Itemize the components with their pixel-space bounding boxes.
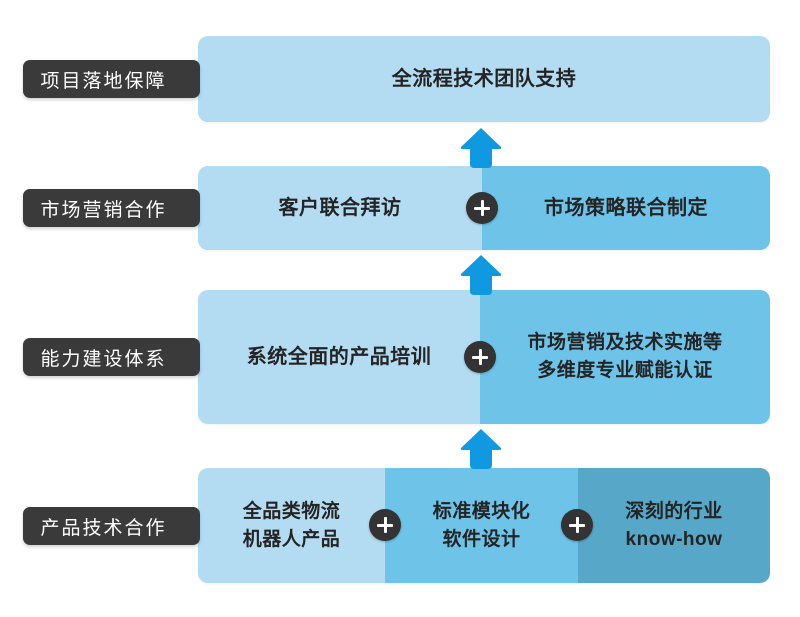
cell-4-2-line-1: 标准模块化 — [433, 498, 531, 526]
cell-3-1-line-1: 系统全面的产品培训 — [247, 343, 432, 372]
row-2-label-text: 市场营销合作 — [40, 195, 166, 222]
diagram-row-2: 客户联合拜访 市场策略联合制定 市场营销合作 — [0, 166, 800, 250]
cell-4-1[interactable]: 全品类物流 机器人产品 — [198, 468, 385, 583]
row-3-label-text: 能力建设体系 — [40, 344, 166, 371]
diagram-row-1: 全流程技术团队支持 项目落地保障 — [0, 36, 800, 122]
cell-1-1-line-1: 全流程技术团队支持 — [392, 65, 577, 94]
cell-3-2[interactable]: 市场营销及技术实施等 多维度专业赋能认证 — [480, 290, 770, 424]
arrow-up-icon-3 — [459, 428, 503, 470]
row-4-label-tag[interactable]: 产品技术合作 — [23, 507, 200, 545]
cell-2-2-line-1: 市场策略联合制定 — [544, 194, 708, 223]
row-1-label-tag[interactable]: 项目落地保障 — [23, 60, 200, 98]
cell-4-3-line-1: 深刻的行业 — [625, 498, 723, 526]
arrow-up-icon-2 — [459, 254, 503, 296]
cell-3-1[interactable]: 系统全面的产品培训 — [198, 290, 480, 424]
cell-4-1-line-1: 全品类物流 — [243, 498, 341, 526]
cell-3-2-line-2: 多维度专业赋能认证 — [527, 357, 722, 385]
row-3-label-tag[interactable]: 能力建设体系 — [23, 338, 200, 376]
row-4-bar: 全品类物流 机器人产品 标准模块化 软件设计 深刻的行业 know-how — [198, 468, 770, 583]
cell-4-2-line-2: 软件设计 — [433, 526, 531, 554]
plus-icon-row-2-1 — [466, 192, 498, 224]
cell-4-3-line-2: know-how — [625, 526, 723, 554]
arrow-up-icon-1 — [459, 127, 503, 169]
cell-2-1-line-1: 客户联合拜访 — [279, 194, 402, 223]
plus-icon-row-4-2 — [561, 509, 593, 541]
row-2-label-tag[interactable]: 市场营销合作 — [23, 189, 200, 227]
cell-2-2[interactable]: 市场策略联合制定 — [482, 166, 770, 250]
capability-stack-diagram: 全流程技术团队支持 项目落地保障 客户联合拜访 市场策略联合制定 市场营销合作 — [0, 0, 800, 617]
cell-1-1[interactable]: 全流程技术团队支持 — [198, 36, 770, 122]
row-1-label-text: 项目落地保障 — [40, 66, 166, 93]
row-1-bar: 全流程技术团队支持 — [198, 36, 770, 122]
cell-4-1-line-2: 机器人产品 — [243, 526, 341, 554]
diagram-row-3: 系统全面的产品培训 市场营销及技术实施等 多维度专业赋能认证 能力建设体系 — [0, 290, 800, 424]
cell-4-2[interactable]: 标准模块化 软件设计 — [385, 468, 578, 583]
plus-icon-row-3-1 — [464, 341, 496, 373]
cell-3-2-line-1: 市场营销及技术实施等 — [527, 329, 722, 357]
row-4-label-text: 产品技术合作 — [40, 513, 166, 540]
cell-2-1[interactable]: 客户联合拜访 — [198, 166, 482, 250]
diagram-row-4: 全品类物流 机器人产品 标准模块化 软件设计 深刻的行业 know-how 产品… — [0, 468, 800, 583]
plus-icon-row-4-1 — [369, 509, 401, 541]
cell-4-3[interactable]: 深刻的行业 know-how — [578, 468, 770, 583]
